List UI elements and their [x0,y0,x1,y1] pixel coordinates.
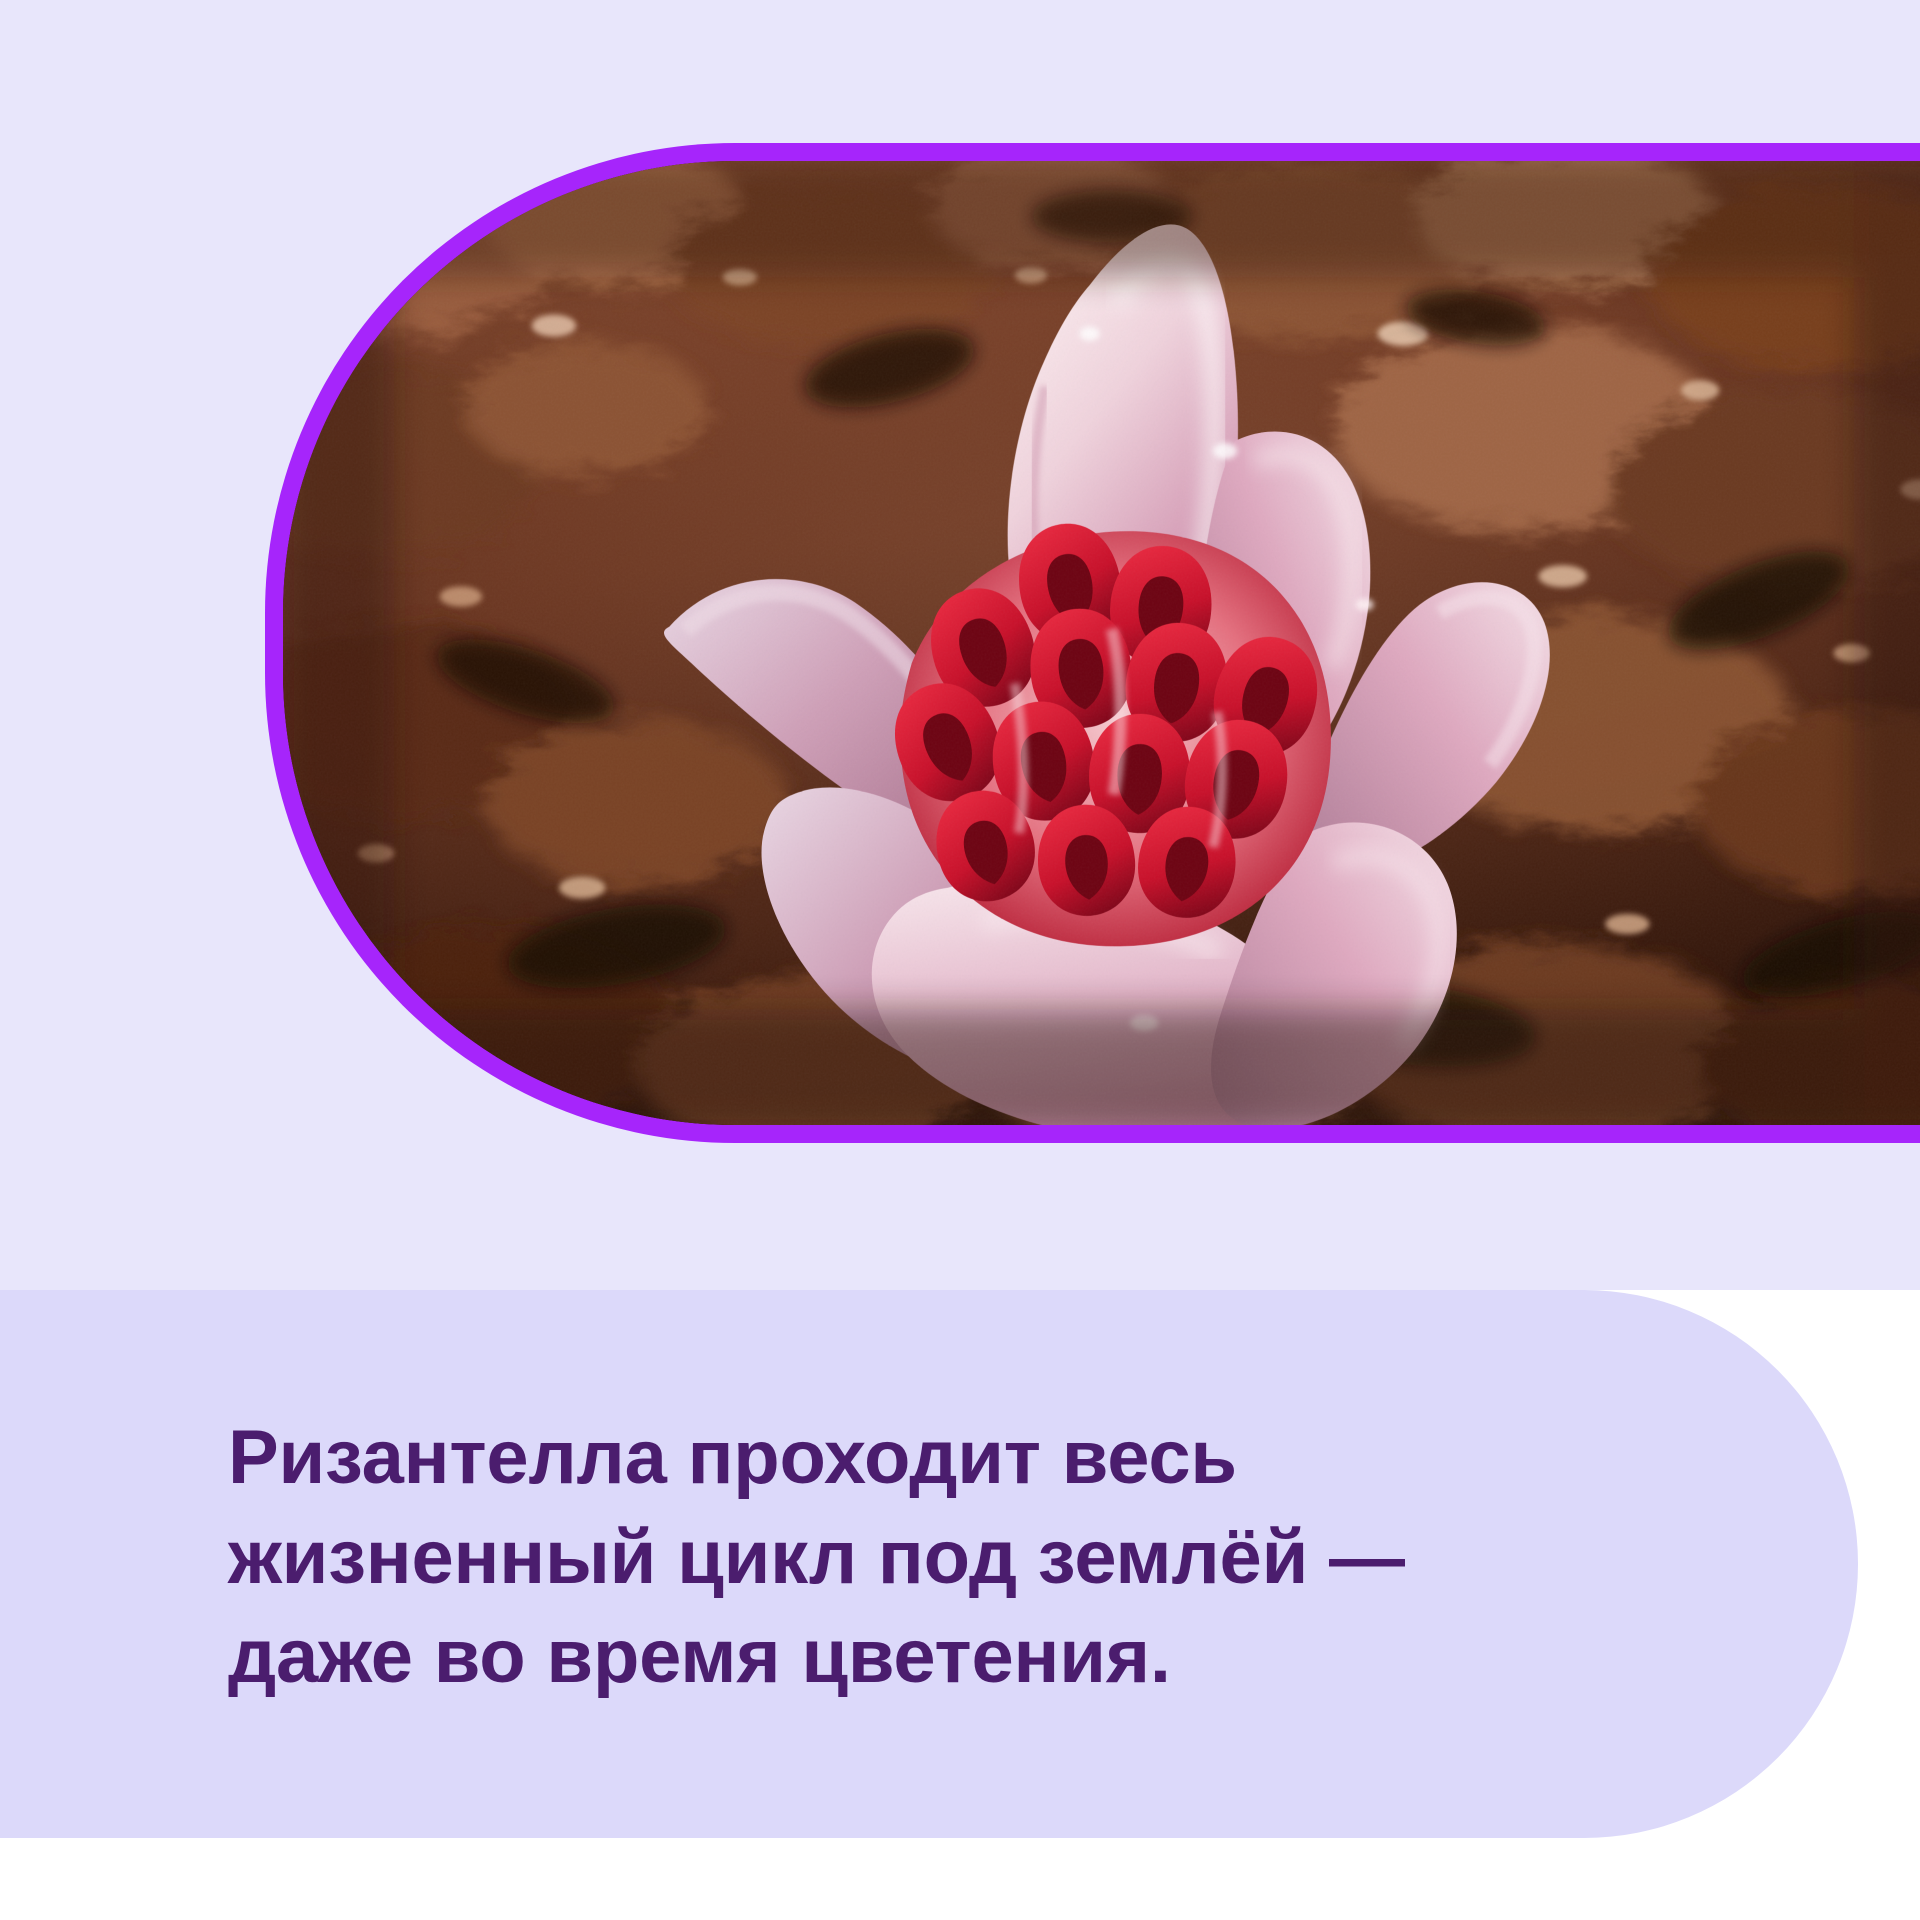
caption-paragraph: Ризантелла проходит весь жизненный цикл … [228,1408,1718,1707]
caption-line-1: Ризантелла проходит весь [228,1415,1237,1500]
orchid-photo-image [283,161,1920,1125]
caption-card: Ризантелла проходит весь жизненный цикл … [0,1290,1858,1838]
photo-card [265,143,1920,1143]
slide-stage: Ризантелла проходит весь жизненный цикл … [0,0,1920,1920]
caption-line-2: жизненный цикл под землёй — [228,1515,1405,1600]
photo-clip [283,161,1920,1125]
caption-line-3: даже во время цветения. [228,1614,1171,1699]
